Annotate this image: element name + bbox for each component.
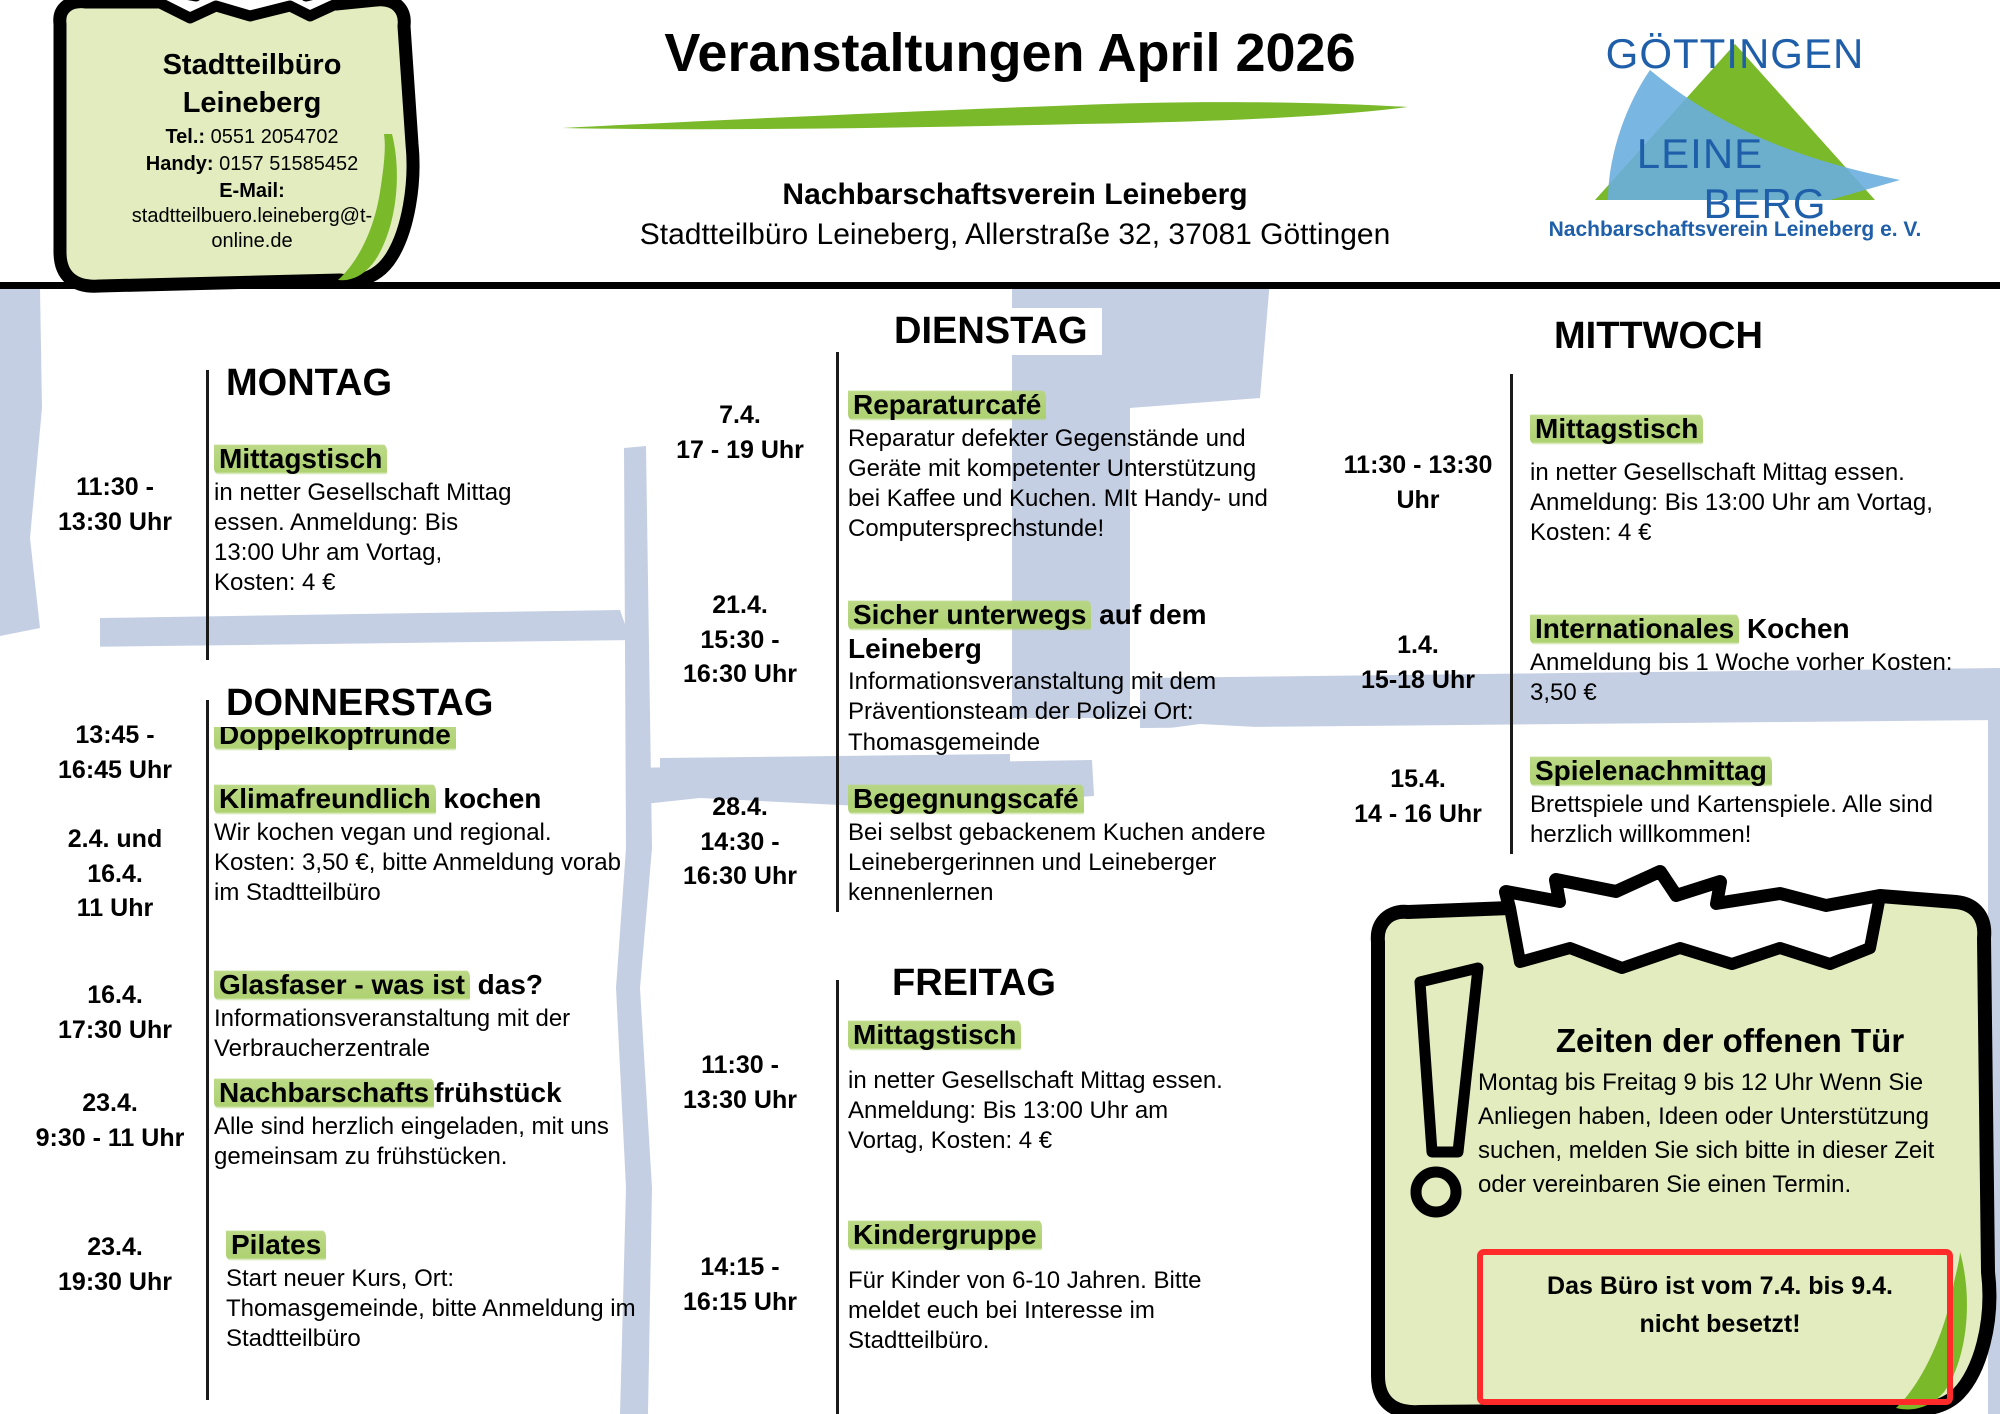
office-note-title-1: Stadtteilbüro xyxy=(102,46,402,84)
event-title: Mittagstisch xyxy=(848,1018,1248,1052)
column-rule-dienstag xyxy=(836,352,839,912)
green-swoosh-icon xyxy=(560,98,1410,134)
event-title: Reparaturcafé xyxy=(848,388,1288,422)
poster-root: Veranstaltungen April 2026 Nachbarschaft… xyxy=(0,0,2000,1414)
office-phone-row: Tel.: 0551 2054702 xyxy=(102,125,402,150)
event-description: in netter Gesellschaft Mittag essen. Anm… xyxy=(848,1066,1248,1157)
event-dienstag-sicher-unterwegs: Sicher unterwegs auf dem Leineberg Infor… xyxy=(848,598,1298,758)
event-title-rest: kochen xyxy=(436,783,542,814)
office-mobile-value: 0157 51585452 xyxy=(219,153,358,175)
event-montag-mittagstisch: Mittagstisch in netter Gesellschaft Mitt… xyxy=(214,442,514,599)
page-title: Veranstaltungen April 2026 xyxy=(560,22,1460,84)
time-dienstag-0: 7.4. 17 - 19 Uhr xyxy=(650,398,830,467)
event-description: Für Kinder von 6-10 Jahren. Bitte meldet… xyxy=(848,1266,1248,1357)
event-donnerstag-klimafreundlich-kochen: Klimafreundlich kochen Wir kochen vegan … xyxy=(214,782,634,908)
event-title-highlight: Mittagstisch xyxy=(1530,412,1703,446)
event-donnerstag-glasfaser: Glasfaser - was ist das? Informationsver… xyxy=(214,968,634,1064)
event-title: Sicher unterwegs auf dem Leineberg xyxy=(848,598,1298,665)
event-donnerstag-nachbarschaftsfruehstueck: Nachbarschaftsfrühstück Alle sind herzli… xyxy=(214,1076,634,1172)
office-email-label-text: E-Mail: xyxy=(219,180,285,202)
time-mittwoch-1: 1.4. 15-18 Uhr xyxy=(1320,628,1516,697)
day-header-dienstag: DIENSTAG xyxy=(880,308,1102,355)
event-description: in netter Gesellschaft Mittag essen. Anm… xyxy=(214,478,514,599)
event-description: Start neuer Kurs, Ort: Thomasgemeinde, b… xyxy=(226,1264,646,1355)
office-phone-value: 0551 2054702 xyxy=(211,126,339,148)
event-title-highlight: Nachbarschafts xyxy=(214,1076,434,1110)
event-title: Mittagstisch xyxy=(214,442,514,476)
event-mittwoch-internationales-kochen: Internationales Kochen Anmeldung bis 1 W… xyxy=(1530,612,1970,708)
event-freitag-kindergruppe: Kindergruppe Für Kinder von 6-10 Jahren.… xyxy=(848,1218,1248,1356)
office-closed-line-1: Das Büro ist vom 7.4. bis 9.4. xyxy=(1480,1268,1960,1306)
column-rule-freitag xyxy=(836,980,839,1414)
event-title-rest: frühstück xyxy=(434,1077,562,1108)
event-description: Reparatur defekter Gegenstände und Gerät… xyxy=(848,424,1288,545)
column-rule-montag xyxy=(206,370,209,660)
office-mobile-row: Handy: 0157 51585452 xyxy=(102,152,402,177)
event-title-highlight: Glasfaser - was ist xyxy=(214,968,470,1002)
time-donnerstag-0: 13:45 - 16:45 Uhr xyxy=(30,718,200,787)
event-description: Informationsveranstaltung mit der Verbra… xyxy=(214,1004,634,1064)
event-title: Begegnungscafé xyxy=(848,782,1288,816)
office-closed-warning: Das Büro ist vom 7.4. bis 9.4. nicht bes… xyxy=(1480,1268,1960,1343)
event-title-highlight: Internationales xyxy=(1530,612,1739,646)
event-description: Alle sind herzlich eingeladen, mit uns g… xyxy=(214,1112,634,1172)
event-title-highlight: Mittagstisch xyxy=(214,442,387,476)
office-phone-label: Tel.: xyxy=(165,126,205,148)
time-donnerstag-1: 2.4. und 16.4. 11 Uhr xyxy=(30,822,200,926)
office-email-value: stadtteilbuero.leineberg@t-online.de xyxy=(102,204,402,254)
event-title: Kindergruppe xyxy=(848,1218,1248,1252)
open-hours-body: Montag bis Freitag 9 bis 12 Uhr Wenn Sie… xyxy=(1478,1066,1978,1202)
logo-tagline: Nachbarschaftsverein Leineberg e. V. xyxy=(1500,218,1970,242)
event-description: in netter Gesellschaft Mittag essen. Anm… xyxy=(1530,458,1950,549)
event-title-highlight: Kindergruppe xyxy=(848,1218,1042,1252)
event-mittwoch-mittagstisch: Mittagstisch in netter Gesellschaft Mitt… xyxy=(1530,412,1950,548)
time-mittwoch-0: 11:30 - 13:30 Uhr xyxy=(1320,448,1516,517)
event-title: Glasfaser - was ist das? xyxy=(214,968,634,1002)
time-dienstag-1: 21.4. 15:30 - 16:30 Uhr xyxy=(650,588,830,692)
day-header-freitag: FREITAG xyxy=(878,960,1070,1007)
day-header-mittwoch: MITTWOCH xyxy=(1540,313,1777,360)
column-rule-donnerstag xyxy=(206,700,209,1400)
time-montag-0: 11:30 - 13:30 Uhr xyxy=(30,470,200,539)
event-description: Informationsveranstaltung mit dem Präven… xyxy=(848,667,1298,758)
office-note-title-2: Leineberg xyxy=(102,84,402,122)
office-mobile-label: Handy: xyxy=(146,153,214,175)
time-freitag-1: 14:15 - 16:15 Uhr xyxy=(650,1250,830,1319)
office-contact-note: Stadtteilbüro Leineberg Tel.: 0551 20547… xyxy=(40,0,460,304)
event-description: Anmeldung bis 1 Woche vorher Kosten: 3,5… xyxy=(1530,648,1970,708)
event-description: Brettspiele und Kartenspiele. Alle sind … xyxy=(1530,790,1980,850)
event-title-highlight: Sicher unterwegs xyxy=(848,598,1091,632)
organization-address: Stadtteilbüro Leineberg, Allerstraße 32,… xyxy=(520,218,1510,252)
event-title: Nachbarschaftsfrühstück xyxy=(214,1076,634,1110)
event-title-rest: das? xyxy=(470,969,543,1000)
open-hours-title: Zeiten der offenen Tür xyxy=(1480,1022,1980,1060)
organization-name: Nachbarschaftsverein Leineberg xyxy=(540,178,1490,212)
event-title: Internationales Kochen xyxy=(1530,612,1970,646)
event-title-highlight: Begegnungscafé xyxy=(848,782,1084,816)
event-title-rest: Kochen xyxy=(1739,613,1849,644)
time-donnerstag-4: 23.4. 19:30 Uhr xyxy=(30,1230,200,1299)
event-title-highlight: Reparaturcafé xyxy=(848,388,1046,422)
office-email-label: E-Mail: xyxy=(102,179,402,204)
day-header-montag: MONTAG xyxy=(212,360,406,407)
event-title-highlight: Spielenachmittag xyxy=(1530,754,1772,788)
event-mittwoch-spielenachmittag: Spielenachmittag Brettspiele und Kartens… xyxy=(1530,754,1980,850)
event-title: Pilates xyxy=(226,1228,646,1262)
event-title: Mittagstisch xyxy=(1530,412,1950,446)
svg-text:GÖTTINGEN: GÖTTINGEN xyxy=(1606,30,1865,77)
event-description: Wir kochen vegan und regional. Kosten: 3… xyxy=(214,818,634,909)
event-donnerstag-pilates: Pilates Start neuer Kurs, Ort: Thomasgem… xyxy=(226,1228,646,1354)
svg-text:LEINE: LEINE xyxy=(1637,130,1763,177)
office-closed-line-2: nicht besetzt! xyxy=(1480,1306,1960,1344)
event-title: Klimafreundlich kochen xyxy=(214,782,634,816)
time-donnerstag-3: 23.4. 9:30 - 11 Uhr xyxy=(14,1086,206,1155)
time-mittwoch-2: 15.4. 14 - 16 Uhr xyxy=(1320,762,1516,831)
time-freitag-0: 11:30 - 13:30 Uhr xyxy=(650,1048,830,1117)
event-dienstag-begegnungscafe: Begegnungscafé Bei selbst gebackenem Kuc… xyxy=(848,782,1288,908)
time-donnerstag-2: 16.4. 17:30 Uhr xyxy=(30,978,200,1047)
event-title: Spielenachmittag xyxy=(1530,754,1980,788)
event-title-highlight: Pilates xyxy=(226,1228,326,1262)
event-dienstag-reparaturcafe: Reparaturcafé Reparatur defekter Gegenst… xyxy=(848,388,1288,545)
event-title-highlight: Klimafreundlich xyxy=(214,782,436,816)
event-description: Bei selbst gebackenem Kuchen andere Lein… xyxy=(848,818,1288,909)
event-freitag-mittagstisch: Mittagstisch in netter Gesellschaft Mitt… xyxy=(848,1018,1248,1156)
day-header-donnerstag: DONNERSTAG xyxy=(212,680,507,727)
time-dienstag-2: 28.4. 14:30 - 16:30 Uhr xyxy=(650,790,830,894)
event-title-highlight: Mittagstisch xyxy=(848,1018,1021,1052)
